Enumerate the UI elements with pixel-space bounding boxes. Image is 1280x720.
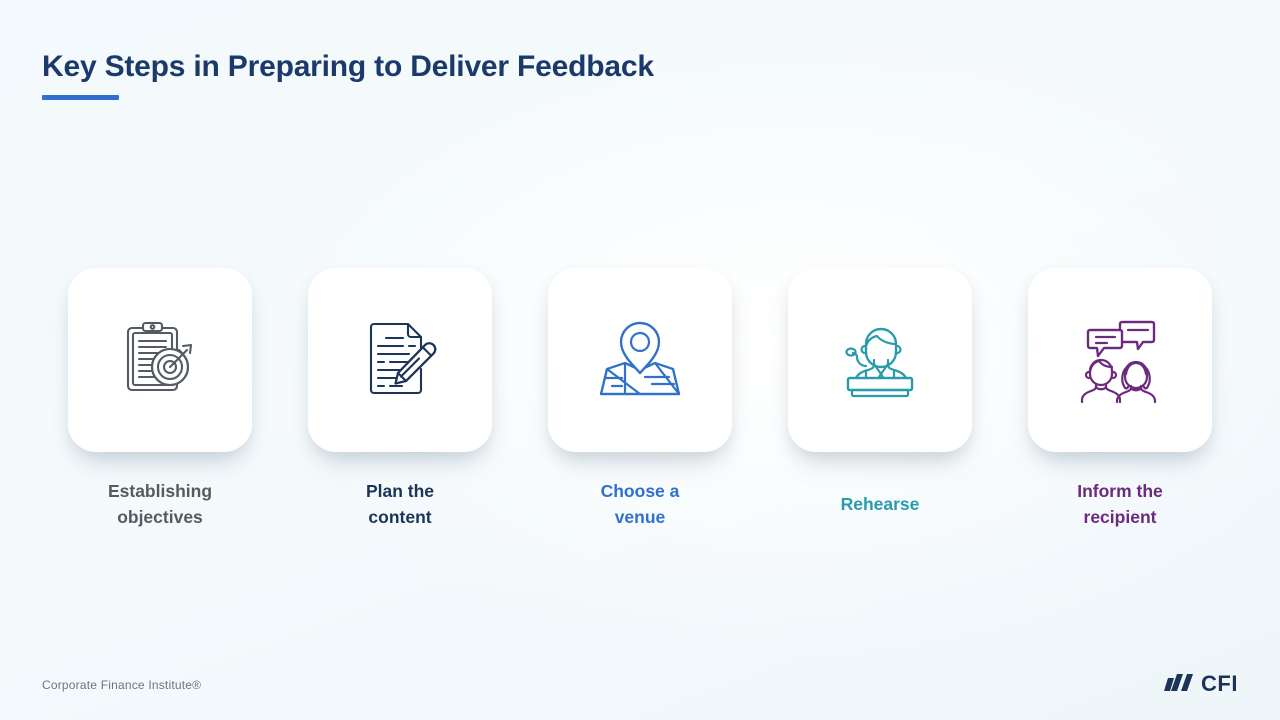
step-label-2-line2: content bbox=[368, 507, 431, 527]
step-label-2-line1: Plan the bbox=[366, 481, 434, 501]
step-label-5-line2: recipient bbox=[1084, 507, 1157, 527]
clipboard-target-icon bbox=[117, 317, 203, 403]
steps-row: Establishing objectives bbox=[0, 268, 1280, 531]
speaker-podium-icon bbox=[836, 316, 924, 404]
step-label-3-line2: venue bbox=[615, 507, 666, 527]
cfi-logo: CFI bbox=[1162, 671, 1238, 696]
step-item-rehearse[interactable]: Rehearse bbox=[788, 268, 972, 517]
step-label-3-line1: Choose a bbox=[601, 481, 680, 501]
people-chat-icon bbox=[1076, 316, 1164, 404]
step-label-4-line1: Rehearse bbox=[841, 494, 920, 514]
cfi-logo-text: CFI bbox=[1201, 673, 1238, 695]
map-pin-icon bbox=[595, 315, 685, 405]
step-card-5[interactable] bbox=[1028, 268, 1212, 452]
footer-attribution: Corporate Finance Institute® bbox=[42, 678, 201, 692]
step-card-1[interactable] bbox=[68, 268, 252, 452]
step-label-5: Inform the recipient bbox=[1020, 478, 1220, 531]
step-label-2: Plan the content bbox=[300, 478, 500, 531]
step-label-1-line2: objectives bbox=[117, 507, 203, 527]
step-card-2[interactable] bbox=[308, 268, 492, 452]
step-item-inform-the-recipient[interactable]: Inform the recipient bbox=[1028, 268, 1212, 531]
step-item-plan-the-content[interactable]: Plan the content bbox=[308, 268, 492, 531]
document-pencil-icon bbox=[357, 317, 443, 403]
cfi-bars-logo-icon bbox=[1162, 671, 1194, 696]
step-item-establishing-objectives[interactable]: Establishing objectives bbox=[68, 268, 252, 531]
step-card-4[interactable] bbox=[788, 268, 972, 452]
title-underline-rule bbox=[42, 95, 119, 100]
slide-canvas: Key Steps in Preparing to Deliver Feedba… bbox=[0, 0, 1280, 720]
step-card-3[interactable] bbox=[548, 268, 732, 452]
step-label-5-line1: Inform the bbox=[1077, 481, 1163, 501]
step-item-choose-a-venue[interactable]: Choose a venue bbox=[548, 268, 732, 531]
title-block: Key Steps in Preparing to Deliver Feedba… bbox=[42, 50, 654, 100]
step-label-1-line1: Establishing bbox=[108, 481, 212, 501]
step-label-3: Choose a venue bbox=[540, 478, 740, 531]
page-title: Key Steps in Preparing to Deliver Feedba… bbox=[42, 50, 654, 83]
step-label-1: Establishing objectives bbox=[60, 478, 260, 531]
step-label-4: Rehearse bbox=[780, 491, 980, 517]
